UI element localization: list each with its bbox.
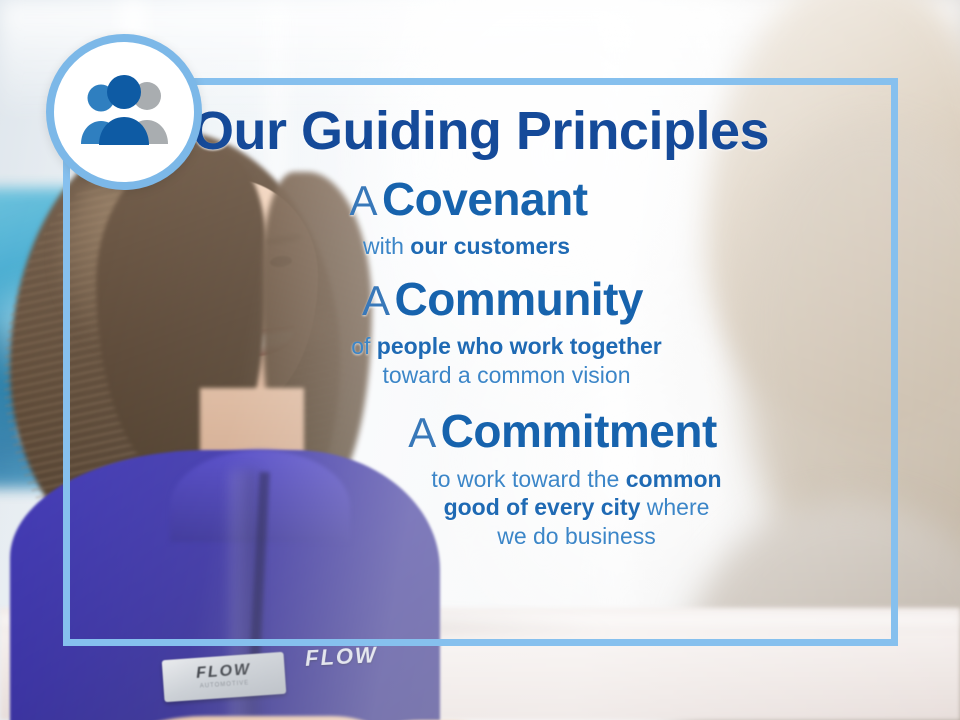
- subtext-span-bold: good of every city: [444, 494, 641, 520]
- principle-headline: A Covenant: [85, 175, 852, 223]
- employee-name-badge: FLOW AUTOMOTIVE: [162, 652, 287, 702]
- subtext-span: of: [351, 333, 377, 359]
- principle-block-covenant: A Covenant with our customers: [97, 175, 864, 261]
- subtext-span: with: [363, 233, 410, 259]
- principle-word: Community: [394, 273, 643, 325]
- poster-text-content: Our Guiding Principles A Covenant with o…: [63, 78, 898, 646]
- principle-word: Commitment: [441, 405, 717, 457]
- subtext-span: to work toward the: [431, 466, 625, 492]
- guiding-principles-badge: [46, 34, 202, 190]
- poster-canvas: FLOW AUTOMOTIVE FLOW Our Guiding Princip…: [0, 0, 960, 720]
- subtext-span-bold: our customers: [410, 233, 570, 259]
- subtext-span-bold: common: [626, 466, 722, 492]
- principle-block-community: A Community of people who work together …: [97, 275, 864, 389]
- people-group-icon: [72, 74, 176, 150]
- subtext-line: to work toward the common: [193, 465, 960, 494]
- subtext-line: we do business: [193, 522, 960, 551]
- principle-subtext: to work toward the common good of every …: [193, 465, 960, 551]
- principle-article: A: [362, 277, 390, 324]
- principle-word: Covenant: [382, 173, 588, 225]
- principle-headline: A Commitment: [179, 407, 946, 455]
- principle-subtext: with our customers: [83, 232, 850, 261]
- subtext-span-bold: people who work together: [377, 333, 662, 359]
- subtext-line: good of every city where: [193, 493, 960, 522]
- subtext-span: where: [640, 494, 709, 520]
- subtext-line: of people who work together: [123, 332, 890, 361]
- polo-chest-logo: FLOW: [304, 642, 378, 672]
- principle-subtext: of people who work together toward a com…: [123, 332, 890, 389]
- subtext-line: toward a common vision: [123, 361, 890, 390]
- principle-block-commitment: A Commitment to work toward the common g…: [97, 407, 864, 550]
- principle-article: A: [349, 177, 377, 224]
- page-title: Our Guiding Principles: [97, 104, 864, 159]
- subtext-span: we do business: [497, 523, 656, 549]
- principle-headline: A Community: [119, 275, 886, 323]
- subtext-span: toward a common vision: [383, 362, 631, 388]
- subtext-line: with our customers: [83, 232, 850, 261]
- principle-article: A: [408, 409, 436, 456]
